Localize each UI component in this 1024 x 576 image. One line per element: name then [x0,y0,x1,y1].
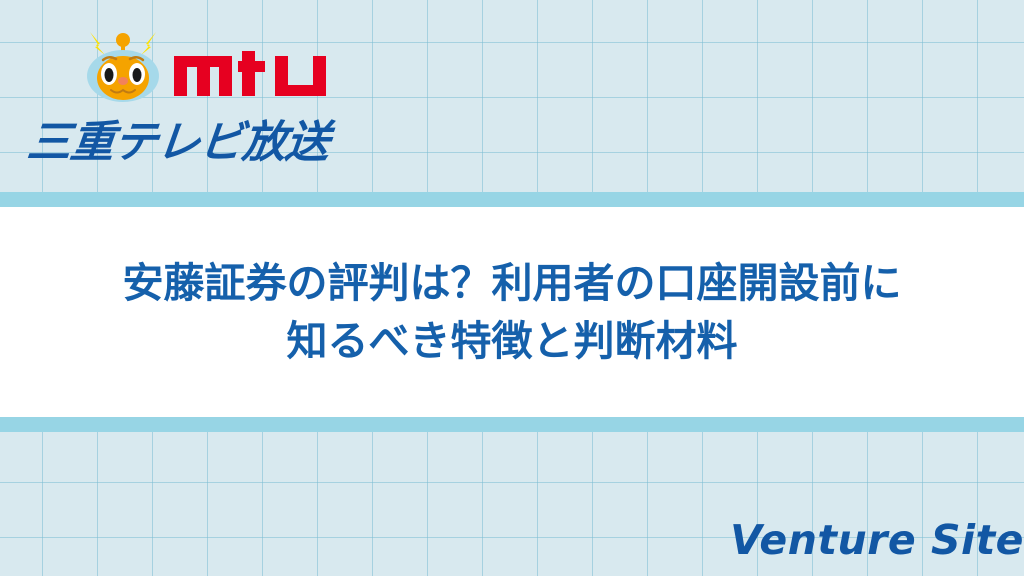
logo-mark-row [28,18,448,106]
page-title-line-1: 安藤証券の評判は？利用者の口座開設前に [123,254,902,312]
eyecatch-canvas: 三重テレビ放送 安藤証券の評判は？利用者の口座開設前に 知るべき特徴と判断材料 … [0,0,1024,576]
divider-band-top [0,192,1024,207]
divider-band-bottom [0,417,1024,432]
station-name-text: 三重テレビ放送 [25,106,333,170]
mtu-wordmark-icon [174,51,326,101]
mtu-bee-mascot-icon [78,22,168,106]
page-title-line-2: 知るべき特徴と判断材料 [287,312,738,370]
station-logo: 三重テレビ放送 [28,18,448,168]
footer-brand-text: Venture Site [730,516,1024,564]
title-panel: 安藤証券の評判は？利用者の口座開設前に 知るべき特徴と判断材料 [0,207,1024,417]
